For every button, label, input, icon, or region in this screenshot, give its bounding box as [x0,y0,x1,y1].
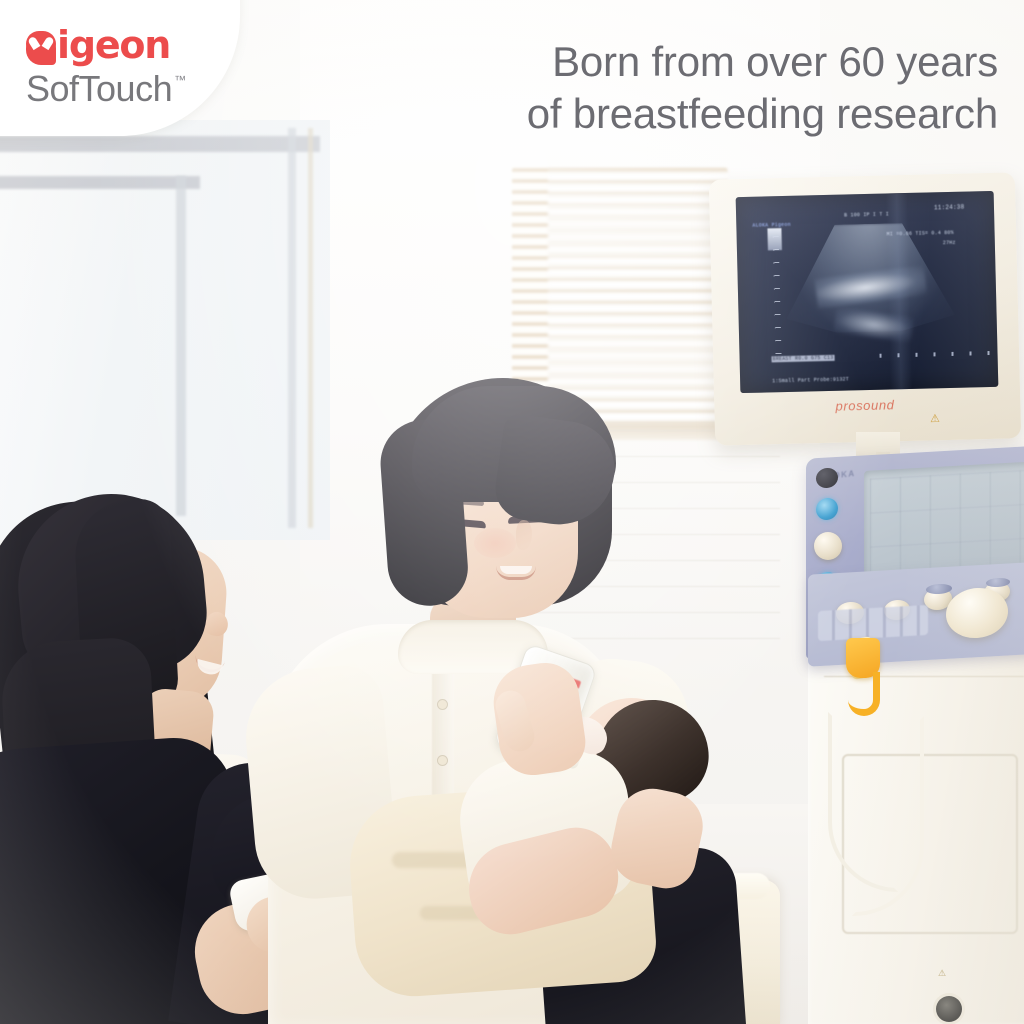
headline-line-1: Born from over 60 years [552,38,998,85]
trademark-symbol: ™ [174,73,186,87]
mother-cheek [474,528,516,558]
window-blinds-secondary [548,168,728,426]
heart-in-p-icon [26,25,56,65]
ultrasound-timestamp: 11:24:38 [934,204,965,212]
headline-line-2: of breastfeeding research [358,88,998,140]
mother-blouse-button-2 [438,756,447,765]
ultrasound-frame-rate: 27Hz [943,240,956,246]
ultrasound-screen: ALOKA Pigeon B 100 IP I T I 11:24:38 MI … [736,191,999,393]
machine-warning-icon: ⚠ [930,968,954,984]
ultrasound-probe-line: 1:Small Part Probe:9132T [772,376,849,384]
pigeon-logo: igeon [26,24,226,66]
ultrasound-machine-label: ALOKA Pigeon [752,222,791,229]
ultrasound-depth-scale [773,236,782,356]
partition-frame-top [0,136,320,152]
pigeon-wordmark: igeon [57,26,170,64]
ultrasound-monitor: ALOKA Pigeon B 100 IP I T I 11:24:38 MI … [712,176,1018,442]
console-gain-knob[interactable] [814,532,842,560]
console-keypad[interactable] [818,605,928,641]
softouch-wordmark: SofTouch [26,70,172,108]
partition-edge [288,128,296,528]
mother-blouse-button-1 [438,700,447,709]
headline: Born from over 60 years of breastfeeding… [358,36,998,140]
cable-hook [848,672,880,716]
advertisement-image: ALOKA Pigeon B 100 IP I T I 11:24:38 MI … [0,0,1024,1024]
softouch-lockup: SofTouch ™ [26,70,226,108]
partition-mullion [176,176,186,516]
partition-edge-2 [308,128,313,528]
ultrasound-top-params: B 100 IP I T I [844,211,889,218]
warning-triangle-icon: ⚠ [930,412,940,425]
brand-lockup: igeon SofTouch ™ [26,24,226,108]
ultrasound-depth-readout: BREAST R0.0 G75 C13 [772,355,835,363]
partition-frame-mid [0,176,200,189]
machine-probe-port[interactable] [936,996,962,1022]
heart-cutout [33,36,49,51]
